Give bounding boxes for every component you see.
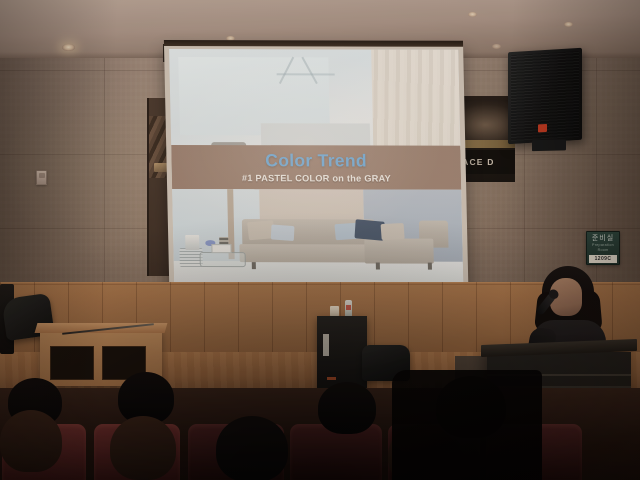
audience-head <box>216 416 288 480</box>
slide-bottom-image <box>172 189 463 285</box>
cabinet-panel <box>50 346 94 380</box>
door-sign: 준비실 Preparation Room 1209C <box>586 231 620 265</box>
downlight-icon <box>564 22 573 27</box>
slide-top-image <box>169 49 460 150</box>
speaker-logo-icon <box>538 124 547 133</box>
glass-coffee-table <box>200 252 247 267</box>
projection-screen: Color Trend #1 PASTEL COLOR on the GRAY <box>164 45 469 297</box>
downlight-icon <box>62 44 75 51</box>
slide-title: Color Trend <box>265 151 367 170</box>
audience-head <box>0 410 62 472</box>
slide-title-band: Color Trend #1 PASTEL COLOR on the GRAY <box>171 145 461 190</box>
av-cabinet <box>317 316 367 392</box>
downlight-icon <box>492 44 501 49</box>
audience-head <box>318 382 376 434</box>
auditorium-photo: ERNI SPACE D 준비실 Preparation Room 1209C <box>0 0 640 480</box>
audience-area <box>0 388 640 480</box>
door-sign-english: Preparation Room <box>589 243 617 253</box>
audience-head <box>110 416 176 480</box>
wall-speaker <box>508 48 582 145</box>
slide-beam <box>277 73 335 75</box>
sofa-leg <box>376 263 380 270</box>
sofa-pillow <box>381 223 405 240</box>
downlight-icon <box>468 12 477 17</box>
door-sign-room-number: 1209C <box>589 255 617 263</box>
projected-slide: Color Trend #1 PASTEL COLOR on the GRAY <box>169 49 463 285</box>
cabinet-label-tag <box>323 334 329 356</box>
door-sign-korean: 준비실 <box>589 235 617 243</box>
sofa-seat <box>240 244 385 262</box>
chair-row <box>0 418 640 480</box>
decor-card <box>211 244 231 253</box>
slide-subtitle: #1 PASTEL COLOR on the GRAY <box>242 172 391 184</box>
screen-top-bar <box>164 40 463 47</box>
sofa-leg <box>428 263 432 270</box>
power-led-icon <box>327 377 336 380</box>
speaker-bracket <box>532 139 566 151</box>
decor-vase <box>185 235 200 250</box>
foreground-silhouette <box>392 370 542 480</box>
wall-switch-plate[interactable] <box>36 170 47 185</box>
sofa-leg <box>252 262 256 269</box>
chaise-lounge <box>364 239 434 264</box>
sofa-pillow <box>271 225 295 242</box>
slide-wood-panel <box>371 50 460 150</box>
